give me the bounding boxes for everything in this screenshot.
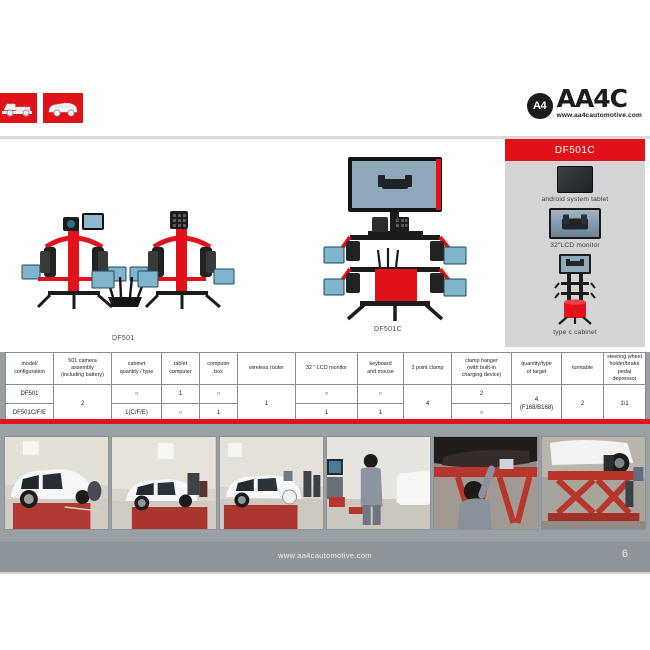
cell-cabinet-df501: ○ — [112, 385, 162, 404]
cell-router: 1 — [238, 385, 296, 423]
photo-under-lift-work — [433, 436, 538, 530]
col-3-point-clamp: 3 point clamp — [404, 353, 452, 385]
android-tablet-icon — [557, 166, 593, 193]
col-cabinet: cabinet quantity / type — [112, 353, 162, 385]
type-c-cabinet-icon — [545, 254, 605, 326]
page-header: A4 AA4C www.aa4cautomotive.com — [0, 84, 650, 136]
product-showcase: DF501 — [0, 139, 497, 347]
vehicle-type-icons — [0, 92, 84, 124]
product-image-df501 — [20, 209, 240, 329]
footer-website: www.aa4cautomotive.com — [0, 551, 650, 560]
cell-camera-assembly: 2 — [54, 385, 112, 423]
right-product-panel: DF501C android system tablet 32"LCD moni… — [505, 139, 645, 347]
cell-clamp: 4 — [404, 385, 452, 423]
col-wireless-router: wireless router — [238, 353, 296, 385]
col-keyboard-mouse: keyboard and mouse — [358, 353, 404, 385]
right-panel-title: DF501C — [505, 139, 645, 161]
panel-item-monitor: 32"LCD monitor — [505, 208, 645, 249]
cell-hanger-df501: 2 — [452, 385, 512, 404]
col-computer-box: computer box — [200, 353, 238, 385]
col-camera-assembly: 501 camera assembly (including battery) — [54, 353, 112, 385]
brand-name: AA4C — [557, 88, 642, 111]
panel-item-cabinet: type c cabinet — [505, 254, 645, 336]
panel-item-cabinet-label: type c cabinet — [505, 329, 645, 336]
cell-keyboard-df501: ○ — [358, 385, 404, 404]
photo-white-car-side — [111, 436, 216, 530]
spec-table-wrapper: model/ configuration 501 camera assembly… — [5, 352, 645, 423]
cell-tablet-df501: 1 — [162, 385, 200, 404]
photo-white-car-front-right — [219, 436, 324, 530]
col-turntable: turntable — [562, 353, 604, 385]
col-clamp-hanger: clamp hanger (with built-in charging dev… — [452, 353, 512, 385]
page-footer: www.aa4cautomotive.com 6 — [0, 542, 650, 572]
col-tablet: tablet computer — [162, 353, 200, 385]
product-caption-df501c: DF501C — [374, 326, 402, 333]
specification-table: model/ configuration 501 camera assembly… — [5, 352, 646, 423]
cell-turntable: 2 — [562, 385, 604, 423]
footer-divider — [0, 572, 650, 574]
pickup-truck-icon — [0, 92, 38, 124]
photo-white-car-rear-left — [4, 436, 109, 530]
aa4c-badge-icon: A4 — [527, 93, 553, 119]
catalog-page: A4 AA4C www.aa4cautomotive.com — [0, 0, 650, 650]
col-lcd-monitor: 32 " LCD monitor — [296, 353, 358, 385]
col-steering-holder: steering wheel holder/brake pedal depres… — [604, 353, 646, 385]
cell-model-df501: DF501 — [6, 385, 54, 404]
table-header-row: model/ configuration 501 camera assembly… — [6, 353, 646, 385]
cell-target: 4 (F168/B168) — [512, 385, 562, 423]
photo-strip — [0, 424, 650, 542]
col-target-quantity: quantity/type of target — [512, 353, 562, 385]
lcd-monitor-icon — [549, 208, 601, 239]
photo-technician-at-door — [326, 436, 431, 530]
cell-steering: 1\1 — [604, 385, 646, 423]
panel-item-tablet: android system tablet — [505, 166, 645, 203]
brand-logo: A4 AA4C www.aa4cautomotive.com — [527, 88, 642, 119]
product-caption-df501: DF501 — [112, 335, 135, 342]
brand-website: www.aa4cautomotive.com — [557, 112, 642, 119]
col-model: model/ configuration — [6, 353, 54, 385]
photo-scissor-lift — [541, 436, 646, 530]
panel-item-tablet-label: android system tablet — [505, 196, 645, 203]
table-row: DF501 2 ○ 1 ○ 1 ○ ○ 4 2 4 (F168/B168) 2 … — [6, 385, 646, 404]
product-image-df501c — [320, 155, 470, 330]
panel-item-monitor-label: 32"LCD monitor — [505, 242, 645, 249]
cell-computerbox-df501: ○ — [200, 385, 238, 404]
cell-monitor-df501: ○ — [296, 385, 358, 404]
page-number: 6 — [622, 548, 628, 560]
suv-van-icon — [42, 92, 84, 124]
